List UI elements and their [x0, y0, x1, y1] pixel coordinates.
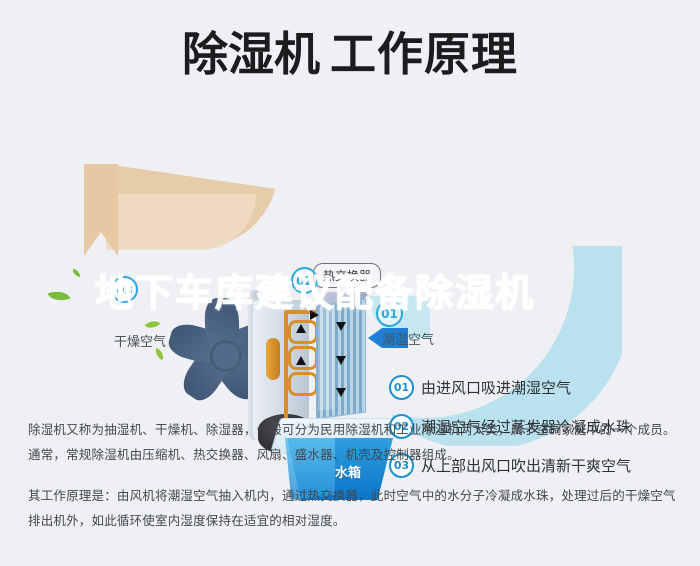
diagram-badge-02: 02 — [291, 267, 318, 294]
flow-arrow-down-icon — [336, 388, 346, 397]
diagram-illustration: 水箱 热交换器 03 02 01 干燥空气 潮湿空气 01 由进风口吸进潮湿空气… — [0, 120, 700, 410]
evaporator-highlight — [318, 305, 334, 411]
flow-arrow-up-icon — [296, 324, 306, 333]
legend-text-01: 由进风口吸进潮湿空气 — [421, 377, 571, 398]
description-paragraph-1: 除湿机又称为抽湿机、干燥机、除湿器，一般可分为民用除湿机和工业除湿机两大类，属于… — [28, 418, 678, 468]
description-paragraph-2: 其工作原理是：由风机将潮湿空气抽入机内，通过热交换器，此时空气中的水分子冷凝成水… — [28, 484, 678, 534]
title-part-2: 工作原理 — [330, 27, 518, 81]
moist-air-label: 潮湿空气 — [382, 329, 434, 348]
description-block: 除湿机又称为抽湿机、干燥机、除湿器，一般可分为民用除湿机和工业除湿机两大类，属于… — [28, 418, 678, 550]
copper-coil-icon — [288, 372, 318, 396]
heat-exchanger-callout: 热交换器 — [313, 263, 381, 288]
leaf-icon — [71, 269, 82, 278]
leaf-icon — [48, 287, 71, 305]
diagram-badge-01: 01 — [376, 300, 403, 327]
flow-arrow-right-icon — [310, 310, 319, 320]
infographic-page: 除湿机工作原理 — [0, 0, 700, 566]
diagram-badge-03: 03 — [111, 276, 138, 303]
flow-arrow-up-icon — [296, 356, 306, 365]
legend-badge-01: 01 — [389, 375, 414, 400]
title-part-1: 除湿机 — [182, 27, 320, 81]
page-title: 除湿机工作原理 — [0, 28, 700, 81]
receiver-cylinder-icon — [266, 338, 280, 380]
flow-arrow-down-icon — [336, 322, 346, 331]
dry-air-label: 干燥空气 — [114, 331, 166, 350]
flow-arrow-down-icon — [336, 356, 346, 365]
leaf-icon — [145, 317, 161, 332]
legend-item: 01 由进风口吸进潮湿空气 — [389, 368, 689, 407]
